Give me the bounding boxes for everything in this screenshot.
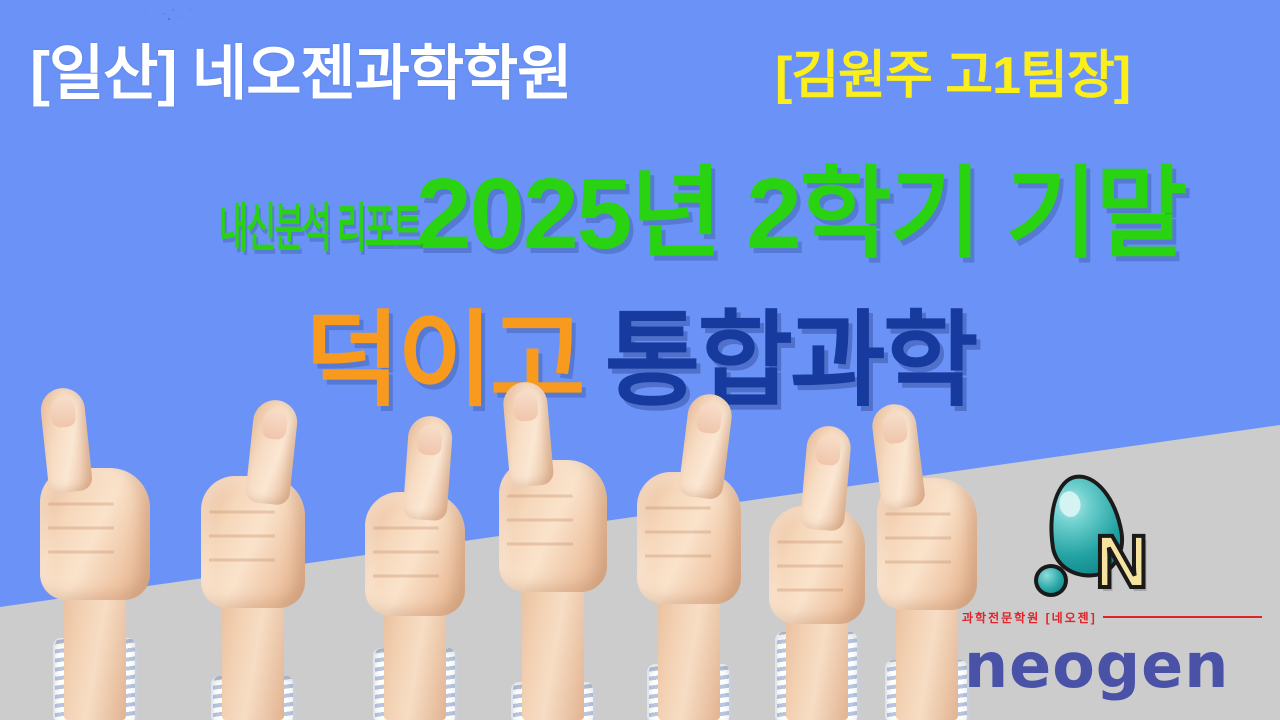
teacher-name-badge: [김원주 고1팀장] — [775, 45, 1130, 107]
thumbnail-canvas: [일산] 네오젠과학학원 [김원주 고1팀장] 내신분석 리포트 2025년 2… — [0, 0, 1280, 720]
knuckle-lines — [645, 490, 711, 590]
thumbs-up-hand — [340, 460, 490, 720]
exclamation-dot-icon — [1034, 564, 1068, 597]
thumb — [39, 386, 94, 494]
thumb — [402, 415, 453, 522]
logo-tagline-row: 과학전문학원 [네오젠] — [962, 608, 1262, 626]
mascot-letter-n: N — [1095, 525, 1148, 599]
logo-tagline: 과학전문학원 [네오젠] — [962, 609, 1097, 626]
knuckle-lines — [777, 524, 843, 624]
thumbnail-nail — [512, 390, 539, 422]
thumb — [870, 402, 926, 511]
thumbnail-nail — [261, 408, 288, 440]
logo-wordmark: neogen — [964, 634, 1229, 698]
knuckle-lines — [373, 510, 439, 610]
neogen-mascot-icon: N — [1018, 468, 1198, 598]
knuckle-lines — [209, 494, 275, 594]
term-row: 내신분석 리포트 2025년 2학기 기말 — [0, 150, 1280, 270]
thumbs-up-hand — [478, 420, 628, 720]
thumbs-up-hand — [178, 430, 328, 720]
thumbnail-nail — [881, 412, 908, 445]
knuckle-lines — [507, 478, 573, 578]
background-speckle-artifact — [140, 5, 210, 27]
term-title: 2025년 2학기 기말 — [416, 158, 1186, 270]
thumb — [800, 424, 853, 531]
knuckle-lines — [48, 486, 114, 586]
thumbnail-nail — [417, 424, 443, 456]
thumbs-up-hand — [20, 420, 170, 720]
thumbs-up-hands-group — [0, 400, 1000, 720]
academy-name: [일산] 네오젠과학학원 — [30, 40, 571, 108]
thumbnail-nail — [696, 402, 723, 435]
neogen-logo: N 과학전문학원 [네오젠] neogen — [962, 468, 1262, 698]
thumbnail-nail — [815, 434, 842, 466]
thumbnail-nail — [50, 396, 77, 428]
header-row: [일산] 네오젠과학학원 [김원주 고1팀장] — [0, 40, 1280, 112]
logo-rule-divider — [1103, 616, 1262, 618]
report-label: 내신분석 리포트 — [218, 196, 420, 262]
knuckle-lines — [885, 496, 951, 596]
